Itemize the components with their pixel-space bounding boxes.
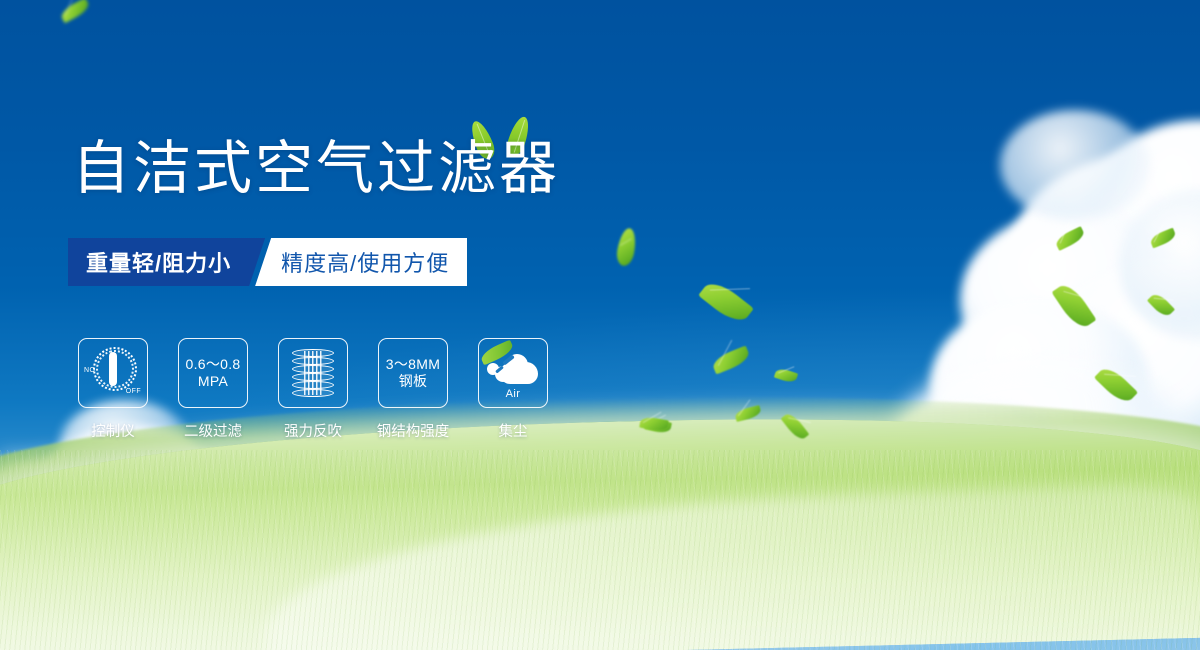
feature-item[interactable]: 3～8MM 钢板 钢结构强度 (378, 338, 448, 441)
feature-label: 钢结构强度 (377, 420, 450, 441)
feature-item[interactable]: 0.6～0.8 MPA 二级过滤 (178, 338, 248, 441)
subtitle-right-segment: 精度高/使用方便 (255, 238, 467, 286)
product-banner: 自洁式空气过滤器 重量轻/阻力小 精度高/使用方便 NO OFF 控制仪 0.6… (0, 0, 1200, 650)
feature-label: 控制仪 (91, 420, 135, 441)
subtitle-bar: 重量轻/阻力小 精度高/使用方便 (68, 238, 467, 286)
page-title: 自洁式空气过滤器 (72, 140, 560, 198)
feature-icon-box[interactable]: 3～8MM 钢板 (378, 338, 448, 408)
pressure-text-icon: 0.6～0.8 MPA (185, 356, 240, 389)
feature-icon-box[interactable]: 0.6～0.8 MPA (178, 338, 248, 408)
feature-icon-box[interactable] (278, 338, 348, 408)
dial-on-label: NO (84, 367, 95, 374)
feature-item[interactable]: NO OFF 控制仪 (78, 338, 148, 441)
subtitle-left-segment: 重量轻/阻力小 (68, 238, 265, 286)
feature-icon-box[interactable]: Air (478, 338, 548, 408)
feature-label: 二级过滤 (184, 420, 242, 441)
dial-off-label: OFF (126, 388, 141, 395)
steel-plate-text-icon: 3～8MM 钢板 (386, 356, 440, 389)
feature-item[interactable]: Air 集尘 (478, 338, 548, 441)
feature-icon-box[interactable]: NO OFF (78, 338, 148, 408)
feature-list: NO OFF 控制仪 0.6～0.8 MPA 二级过滤 (78, 338, 548, 441)
feature-item[interactable]: 强力反吹 (278, 338, 348, 441)
air-cloud-icon: Air (486, 350, 540, 396)
filter-cartridge-icon (291, 349, 335, 397)
feature-label: 强力反吹 (284, 420, 342, 441)
air-label: Air (486, 388, 540, 400)
feature-label: 集尘 (499, 420, 528, 441)
control-dial-icon: NO OFF (84, 345, 142, 401)
